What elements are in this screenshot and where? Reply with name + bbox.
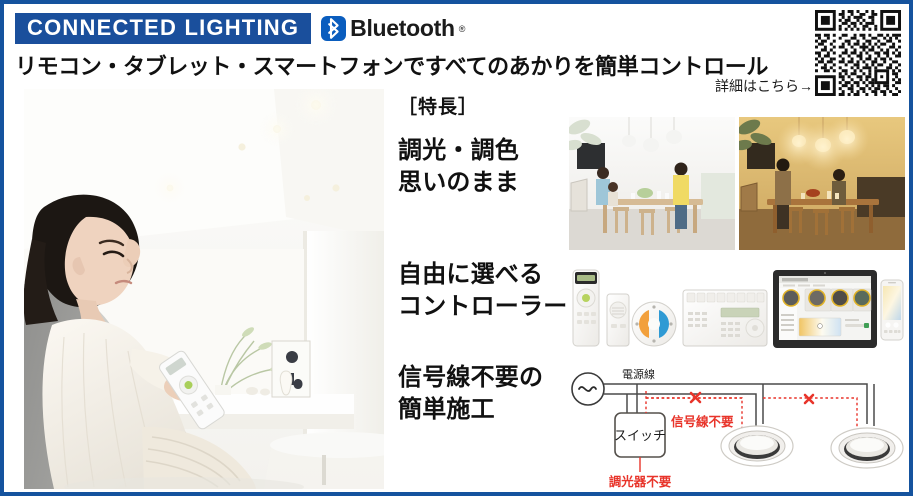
connected-lighting-banner: CONNECTED LIGHTING — [15, 13, 311, 44]
header: CONNECTED LIGHTING Bluetooth ® リモコン・タブレッ… — [15, 13, 895, 85]
switch-box: スイッチ — [614, 413, 666, 457]
banner-row: CONNECTED LIGHTING Bluetooth ® — [15, 13, 895, 44]
qr-code-icon[interactable] — [815, 10, 901, 96]
controllers-row — [569, 262, 905, 352]
photo-dining-cool-light — [569, 117, 735, 250]
qr-caption: 詳細はこちら→ — [715, 76, 813, 96]
power-line-label: 電源線 — [622, 367, 655, 381]
feature-line: 信号線不要の — [398, 362, 543, 394]
feature-line: 思いのまま — [398, 167, 568, 199]
tablet-controller — [773, 270, 877, 348]
feature-block-controllers: 自由に選べる コントローラー — [398, 259, 567, 322]
qr-block[interactable] — [815, 10, 901, 96]
no-signal-wire-label: 信号線不要 — [671, 414, 734, 429]
bluetooth-wordmark: Bluetooth — [350, 17, 455, 40]
hero-photo — [24, 89, 384, 489]
feature-line: 調光・調色 — [398, 135, 568, 167]
remote-control-large — [573, 270, 599, 346]
feature-tag: ［特長］ — [398, 92, 568, 119]
wiring-diagram: 電源線 スイッチ 信号線 — [567, 356, 907, 492]
downlight-2 — [831, 428, 903, 468]
feature-block-dimming: 調光・調色 思いのまま — [398, 135, 568, 198]
feature-line: コントローラー — [398, 291, 567, 323]
wall-panel-controller — [683, 290, 767, 346]
feature-block-no-signal-wire: 信号線不要の 簡単施工 — [398, 362, 543, 425]
switch-label: スイッチ — [614, 428, 666, 443]
remote-control-small — [607, 294, 629, 346]
features-column: ［特長］ 調光・調色 思いのまま — [398, 92, 568, 198]
photo-dining-warm-light — [739, 117, 905, 250]
smartphone-controller — [881, 280, 903, 340]
bluetooth-lockup: Bluetooth ® — [321, 16, 465, 41]
round-dial-controller — [632, 302, 676, 346]
feature-line: 簡単施工 — [398, 394, 543, 426]
no-dimmer-label: 調光器不要 — [609, 474, 672, 489]
room-photo-pair — [569, 117, 905, 250]
ac-source-symbol — [572, 373, 604, 405]
poster-root: CONNECTED LIGHTING Bluetooth ® リモコン・タブレッ… — [0, 0, 913, 496]
bluetooth-rune-icon — [321, 16, 346, 41]
registered-mark: ® — [459, 24, 466, 34]
feature-line: 自由に選べる — [398, 259, 567, 291]
cross-mark — [805, 395, 813, 403]
downlight-1 — [721, 426, 793, 466]
